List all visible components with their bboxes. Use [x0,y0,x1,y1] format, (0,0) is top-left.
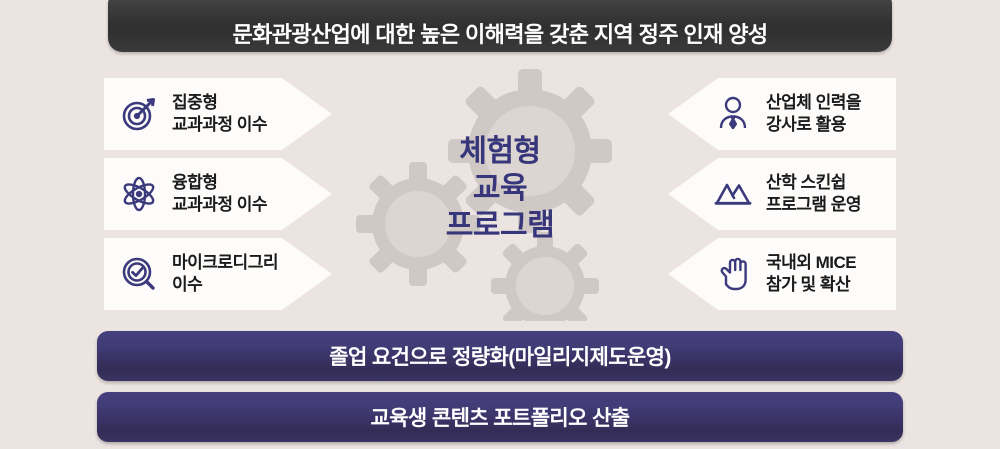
left-card-3-line1: 마이크로디그리 [172,253,278,272]
hand-icon [712,253,754,295]
center-program-group: 체험형 교육 프로그램 [355,56,645,321]
center-label-line1: 체험형 [459,134,540,169]
magnifier-check-icon [118,253,160,295]
atom-icon [118,173,160,215]
right-card-industry-instructors[interactable]: 산업체 인력을 강사로 활용 [668,78,896,150]
bottom-bar-1-label: 졸업 요건으로 정량화(마일리지제도운영) [329,341,671,371]
left-card-1-line2: 교과과정 이수 [172,114,267,136]
left-card-3-line2: 이수 [172,274,278,296]
right-card-2-line1: 산학 스킨쉽 [766,173,846,192]
center-label-line3: 프로그램 [446,208,554,243]
left-card-1-text: 집중형 교과과정 이수 [172,92,267,136]
left-card-focused-curriculum[interactable]: 집중형 교과과정 이수 [104,78,332,150]
target-icon [118,93,160,135]
right-card-mice-participation[interactable]: 국내외 MICE 참가 및 확산 [668,238,896,310]
header-banner: 문화관광산업에 대한 높은 이해력을 갖춘 지역 정주 인재 양성 [108,0,892,52]
bottom-bar-portfolio-output[interactable]: 교육생 콘텐츠 포트폴리오 산출 [97,392,903,442]
left-card-convergence-curriculum[interactable]: 융합형 교과과정 이수 [104,158,332,230]
left-card-microdegree[interactable]: 마이크로디그리 이수 [104,238,332,310]
left-card-2-text: 융합형 교과과정 이수 [172,172,267,216]
infographic-root: 문화관광산업에 대한 높은 이해력을 갖춘 지역 정주 인재 양성 [0,0,1000,449]
mountain-icon [712,173,754,215]
right-card-1-line1: 산업체 인력을 [766,93,861,112]
center-label-line2: 교육 [473,171,527,206]
right-card-1-line2: 강사로 활용 [766,114,861,136]
right-card-3-line1: 국내외 MICE [766,253,856,272]
right-card-2-line2: 프로그램 운영 [766,194,861,216]
businessperson-icon [712,93,754,135]
center-label: 체험형 교육 프로그램 [355,56,645,321]
left-card-3-text: 마이크로디그리 이수 [172,252,278,296]
right-card-1-text: 산업체 인력을 강사로 활용 [766,92,861,136]
bottom-bar-2-label: 교육생 콘텐츠 포트폴리오 산출 [370,402,629,432]
right-card-industry-academia-program[interactable]: 산학 스킨쉽 프로그램 운영 [668,158,896,230]
bottom-bar-graduation-requirement[interactable]: 졸업 요건으로 정량화(마일리지제도운영) [97,331,903,381]
right-card-3-text: 국내외 MICE 참가 및 확산 [766,252,856,296]
right-card-3-line2: 참가 및 확산 [766,274,856,296]
page-title: 문화관광산업에 대한 높은 이해력을 갖춘 지역 정주 인재 양성 [232,24,767,46]
right-card-2-text: 산학 스킨쉽 프로그램 운영 [766,172,861,216]
left-card-1-line1: 집중형 [172,93,217,112]
left-card-2-line2: 교과과정 이수 [172,194,267,216]
left-card-2-line1: 융합형 [172,173,217,192]
